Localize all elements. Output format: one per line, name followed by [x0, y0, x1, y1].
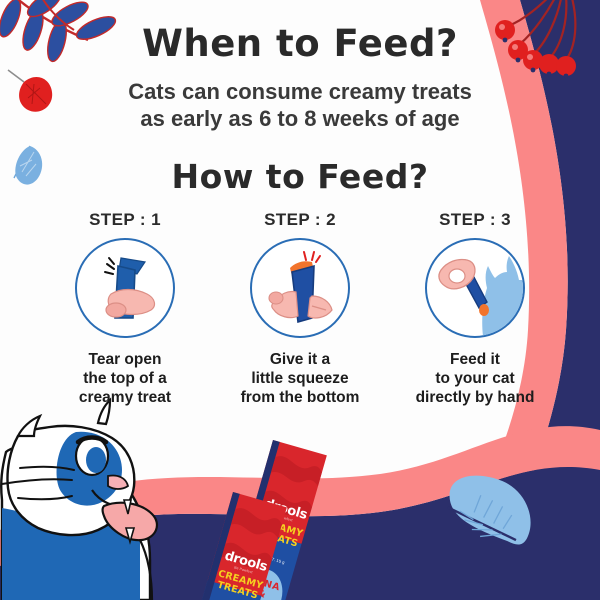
page-title-how-to-feed: How to Feed? — [0, 157, 600, 196]
step-1: STEP : 1 — [45, 210, 205, 407]
step-2: STEP : 2 — [220, 210, 380, 407]
step-2-illustration — [250, 238, 350, 338]
page-title-when-to-feed: When to Feed? — [0, 22, 600, 65]
step-1-caption: Tear open the top of a creamy treat — [79, 350, 171, 407]
step-3: STEP : 3 Feed it to your cat direct — [395, 210, 555, 407]
feed-cat-icon — [427, 240, 523, 336]
tear-open-tube-icon — [77, 240, 173, 336]
subtitle-text: Cats can consume creamy treats as early … — [0, 78, 600, 132]
step-3-caption: Feed it to your cat directly by hand — [416, 350, 535, 407]
step-1-label: STEP : 1 — [89, 210, 161, 230]
step-2-caption: Give it a little squeeze from the bottom — [241, 350, 360, 407]
squeeze-tube-icon — [252, 240, 348, 336]
steps-row: STEP : 1 — [45, 210, 555, 407]
product-packets: drools Be Pawfect CREAMY TREATS NET WT. … — [225, 440, 405, 600]
step-3-label: STEP : 3 — [439, 210, 511, 230]
step-2-label: STEP : 2 — [264, 210, 336, 230]
poster-canvas: When to Feed? Cats can consume creamy tr… — [0, 0, 600, 600]
step-3-illustration — [425, 238, 525, 338]
step-1-illustration — [75, 238, 175, 338]
